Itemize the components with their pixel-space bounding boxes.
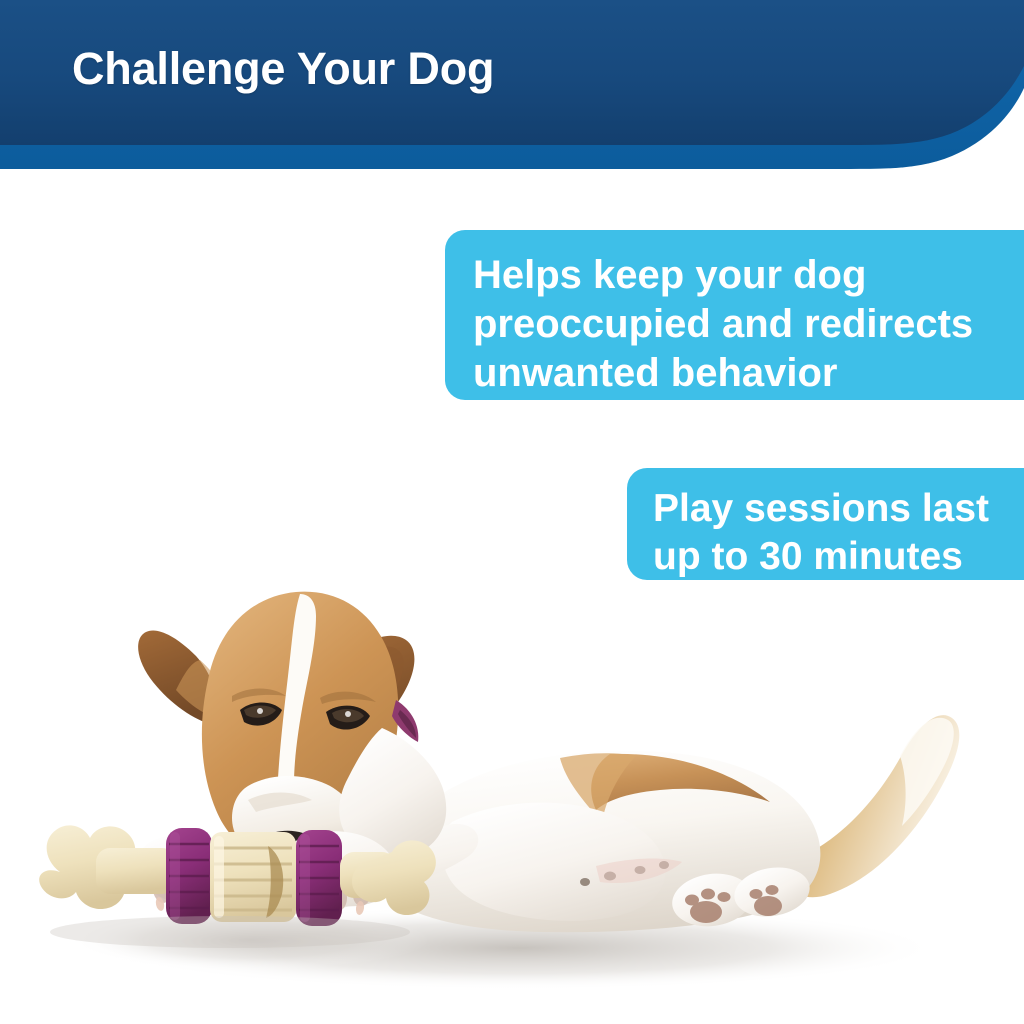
header-banner: Challenge Your Dog [0,0,1024,185]
dog-product-photo [0,560,1024,1024]
callout-line: Play sessions last [653,485,1024,533]
toy-purple-ring-right [296,830,342,926]
product-feature-banner: Challenge Your Dog Helps keep your dog p… [0,0,1024,1024]
toy-center-barrel [210,832,296,922]
toy-shaft-left [96,848,176,894]
dog-illustration [0,560,1024,1024]
feature-callout-primary: Helps keep your dog preoccupied and redi… [445,230,1024,400]
callout-line: Helps keep your dog [473,251,1024,300]
toy-shadow [50,916,410,948]
toy-purple-ring-left [166,828,212,924]
callout-line: unwanted behavior [473,349,1024,398]
page-title: Challenge Your Dog [72,44,494,94]
callout-line: preoccupied and redirects [473,300,1024,349]
